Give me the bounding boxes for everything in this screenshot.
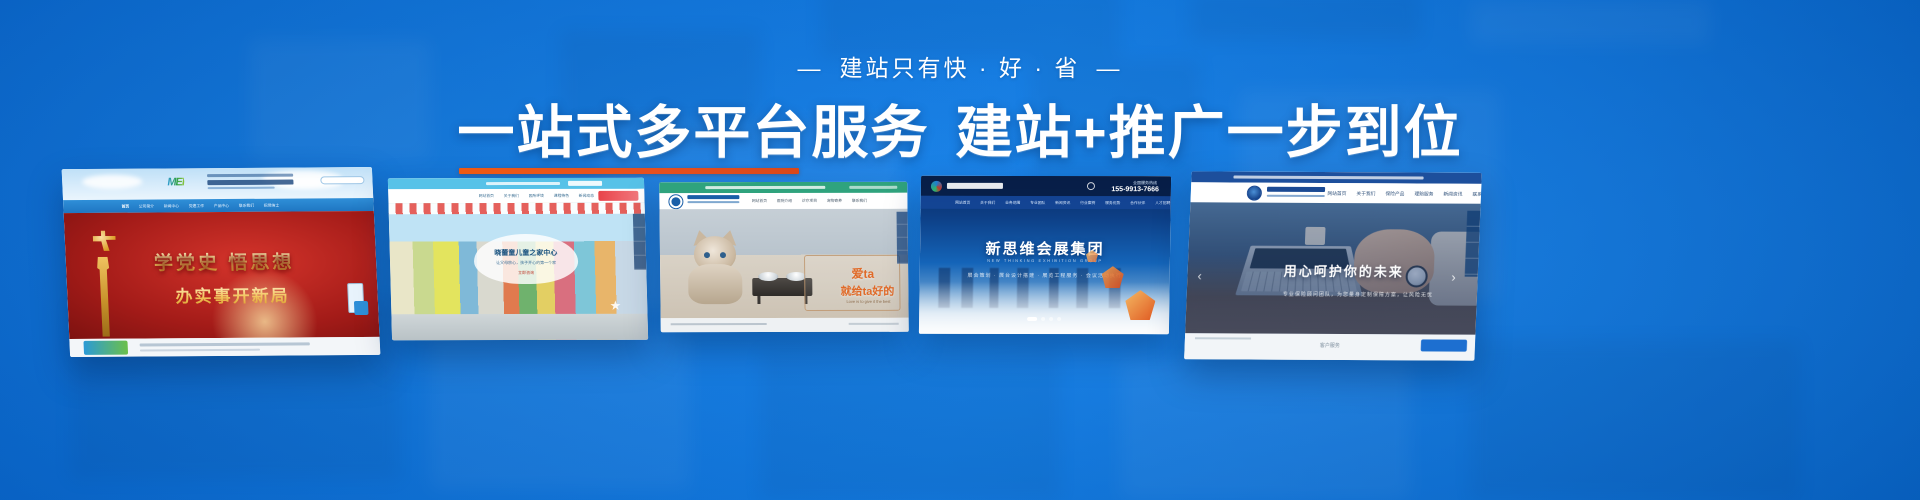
s1-search-input[interactable] [320,176,364,184]
s2-info-bubble: 晓蕾童儿童之家中心 让父母放心，孩子开心的第一个家 立即咨询 [473,234,578,284]
s4-nav-item[interactable]: 行业案例 [1080,200,1095,206]
s4-nav-item[interactable]: 服务优势 [1105,200,1120,206]
s2-nav-item[interactable]: 课程特色 [554,193,569,199]
s1-monument-pillar [88,257,122,337]
s5-nav-item[interactable]: 保险产品 [1385,190,1404,197]
s1-nav-item[interactable]: 新闻中心 [164,203,179,209]
hammer-sickle-icon [90,229,117,253]
paw-badge-icon [669,195,682,208]
s4-navbar[interactable]: 网站首页 关于我们 业务范围 专业团队 新闻资讯 行业案例 服务优势 合作伙伴 … [921,196,1171,209]
s3-side-rail[interactable] [897,212,909,264]
thumbnail-party-education[interactable]: MEI 首页 公司简介 新闻中心 党建工作 产品中心 联系我们 招贤纳士 [62,167,381,357]
s5-hero-photo: 用心呵护你的未来 专业保险顾问团队，为您量身定制保障方案，让风险无忧 ‹ › [1185,202,1480,334]
s1-nav-item[interactable]: 联系我们 [239,202,254,208]
s1-footer-logo [83,341,128,355]
s5-nav-item[interactable]: 联系我们 [1472,190,1481,197]
headline-part1: 一站式多平台服务 [457,101,929,165]
s2-side-rail[interactable] [633,214,646,270]
s4-nav-item[interactable]: 关于我们 [980,200,995,206]
s1-logo: MEI [167,176,184,188]
s5-nav-item[interactable]: 理赔服务 [1414,190,1433,197]
thumbnail-kindergarten[interactable]: 网站首页 关于我们 园所环境 课程特色 新闻动态 晓蕾童儿童之家中心 让父母放心… [388,178,648,340]
s2-bubble-badge[interactable]: 立即咨询 [518,270,534,276]
s5-hero-sub: 专业保险顾问团队，为您量身定制保障方案，让风险无忧 [1283,291,1433,299]
s2-nav-item[interactable]: 关于我们 [504,193,519,199]
carousel-prev-icon[interactable]: ‹ [1197,268,1202,283]
s3-nav-item[interactable]: 网站首页 [752,198,767,204]
thumbnail-exhibition-group[interactable]: 全国服务热线 155-9913-7666 网站首页 关于我们 业务范围 专业团队… [919,176,1171,334]
s1-footer [69,337,380,357]
s3-nav-item[interactable]: 联系我们 [852,198,867,204]
s1-nav-item[interactable]: 首页 [121,203,129,209]
headline-underline-accent [459,168,799,174]
tagline-dash-right: — [1096,57,1122,80]
thumbnail-pet-hospital[interactable]: 网站首页 医院介绍 诊疗项目 宠物寄养 联系我们 [659,182,909,332]
s2-topbar [388,178,644,189]
s4-nav-item[interactable]: 合作伙伴 [1130,200,1145,206]
hero-headline-wrap: 一站式多平台服务建站+推广一步到位 [457,102,1462,166]
s1-nav-item[interactable]: 产品中心 [214,203,229,209]
s2-bubble-title: 晓蕾童儿童之家中心 [474,248,578,258]
s3-nav-item[interactable]: 医院介绍 [777,198,792,204]
star-icon: ★ [609,298,621,314]
s3-hero-sub: Love is to give it the best [846,299,890,304]
s5-hero-title: 用心呵护你的未来 [1283,261,1404,281]
s4-nav-item[interactable]: 专业团队 [1030,200,1045,206]
carousel-next-icon[interactable]: › [1451,269,1456,284]
s3-brand [687,195,739,203]
s1-nav-item[interactable]: 公司简介 [139,203,154,209]
s2-bubble-sub: 让父母放心，孩子开心的第一个家 [474,260,578,266]
s3-hero-photo: 爱ta 就给ta好的 Love is to give it the best [659,209,908,318]
s1-nav-item[interactable]: 招贤纳士 [264,202,279,208]
hero-tagline: —建站只有快 · 好 · 省— [0,57,1920,80]
tagline-text: 建站只有快 · 好 · 省 [840,55,1081,81]
s5-side-rail[interactable] [1465,211,1481,277]
s4-nav-item[interactable]: 新闻资讯 [1055,200,1070,206]
s2-brand-logo [598,191,638,201]
s5-nav-item[interactable]: 关于我们 [1356,190,1375,197]
hero-banner: —建站只有快 · 好 · 省— 一站式多平台服务建站+推广一步到位 MEI [0,0,1920,500]
hero-headline: 一站式多平台服务建站+推广一步到位 [457,102,1462,166]
s4-brand [947,183,1003,189]
phone-icon [1087,182,1095,190]
s2-nav-item[interactable]: 网站首页 [479,193,494,199]
s1-hero-line1: 学党史 悟思想 [153,248,295,276]
s4-logo-icon [931,181,942,192]
s4-header: 全国服务热线 155-9913-7666 [921,176,1171,196]
s4-hero-slogan: 展会策划 · 展台设计搭建 · 展览工程服务 · 会议活动执行 [920,272,1170,279]
s2-nav-item[interactable]: 园所环境 [529,193,544,199]
s5-brand [1267,187,1325,197]
s5-nav-item[interactable]: 新闻资讯 [1443,190,1462,197]
s3-nav-item[interactable]: 诊疗项目 [802,198,817,204]
s4-hero-subtitle: NEW THINKING EXHIBITION GROUP [920,258,1170,263]
s1-company-name [207,174,294,190]
s2-navbar[interactable]: 网站首页 关于我们 园所环境 课程特色 新闻动态 [388,189,644,203]
s2-nav-item[interactable]: 新闻动态 [579,193,594,199]
headline-part2: 建站+推广一步到位 [955,101,1462,165]
s2-awning [388,203,644,214]
s1-hero-banner: 学党史 悟思想 办实事开新局 [64,211,380,339]
s1-back-to-top-button[interactable] [354,301,369,315]
s4-carousel-dots[interactable] [919,308,1169,326]
tagline-dash-left: — [798,57,824,80]
s3-footer [661,318,909,332]
s3-nav-item[interactable]: 宠物寄养 [827,198,842,204]
s4-nav-item[interactable]: 人才招聘 [1155,200,1170,206]
s4-tel-number: 155-9913-7666 [1111,186,1159,193]
s5-footer: 客户服务 [1184,333,1475,360]
cat-illustration [686,236,745,304]
s4-hero-title: 新思维会展集团 [920,238,1170,259]
s4-nav-item[interactable]: 网站首页 [955,199,970,205]
s3-hero-line2: 就给ta好的 [840,283,894,299]
s5-navbar[interactable]: 网站首页 关于我们 保险产品 理赔服务 新闻资讯 联系我们 [1190,182,1481,204]
s4-nav-item[interactable]: 业务范围 [1005,200,1020,206]
hero-copy: —建站只有快 · 好 · 省— 一站式多平台服务建站+推广一步到位 [0,0,1920,166]
s1-nav-item[interactable]: 党建工作 [189,203,204,209]
s3-hero-line1: 爱ta [851,265,874,282]
s3-topbar [659,182,907,193]
s5-nav-item[interactable]: 网站首页 [1327,190,1346,197]
thumbnail-insurance[interactable]: 网站首页 关于我们 保险产品 理赔服务 新闻资讯 联系我们 [1184,171,1482,360]
s1-hero-line2: 办实事开新局 [175,282,290,308]
s2-topbar-logo [568,181,602,186]
s2-ground [391,314,648,340]
s5-footer-cta[interactable] [1421,339,1468,351]
